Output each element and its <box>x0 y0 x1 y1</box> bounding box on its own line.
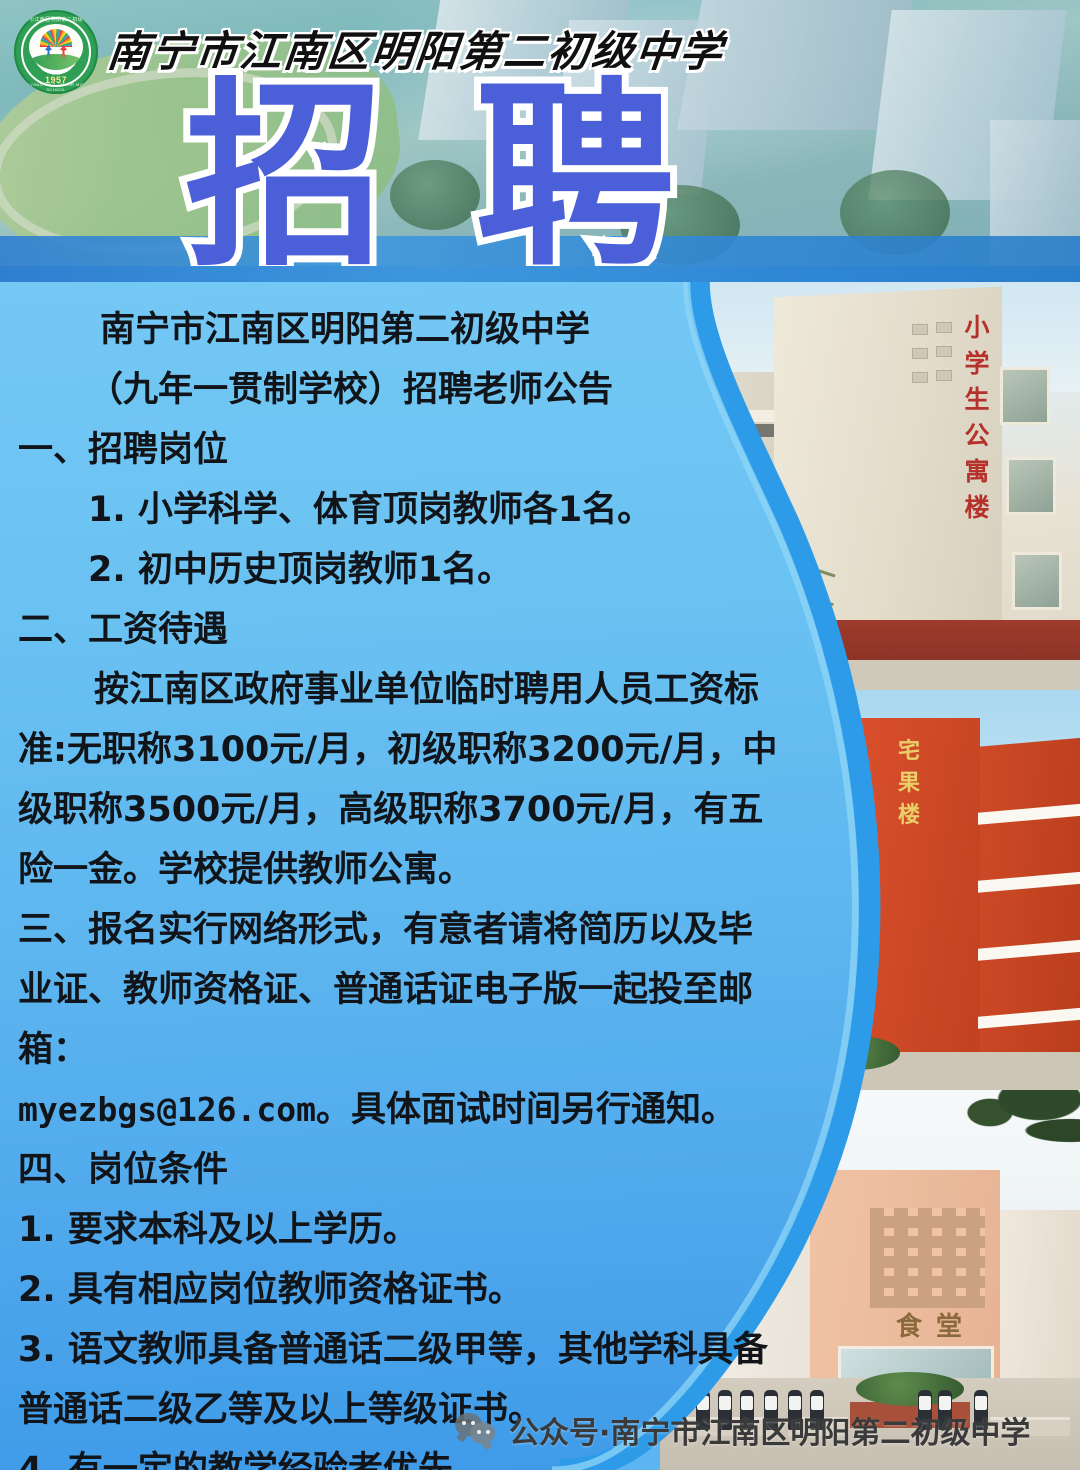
wall-vent <box>912 372 928 383</box>
tree-branch <box>806 565 835 577</box>
application-email-line: myezbgs@126.com。具体面试时间另行通知。 <box>0 1080 800 1140</box>
logo-arc-top-text: 南宁市江南区明阳第二初级中学 <box>14 16 98 23</box>
email-address[interactable]: myezbgs@126.com <box>18 1090 316 1129</box>
announcement-body: 南宁市江南区明阳第二初级中学 （九年一贯制学校）招聘老师公告 一、招聘岗位 1.… <box>0 300 800 1470</box>
section-heading-salary: 二、工资待遇 <box>0 600 800 660</box>
salary-body: 按江南区政府事业单位临时聘用人员工资标准:无职称3100元/月，初级职称3200… <box>0 660 778 900</box>
school-logo: 南宁市江南区明阳第二初级中学 1957 MINGYANG NO.2 JUNIOR… <box>14 10 98 94</box>
section-heading-requirements: 四、岗位条件 <box>0 1140 800 1200</box>
rainbow-sun-icon <box>40 29 72 47</box>
tree-branches <box>880 1090 1080 1180</box>
logo-inner-scene <box>29 24 83 70</box>
footer-wechat: 公众号·南宁市江南区明阳第二初级中学 <box>455 1408 1030 1452</box>
photo-caption-cafeteria: 食堂 <box>896 1314 976 1340</box>
section-heading-application: 三、报名实行网络形式，有意者请将简历以及毕业证、教师资格证、普通话证电子版一起投… <box>0 900 778 1080</box>
photo-caption-classroom: 宅果楼 <box>894 736 924 832</box>
position-item: 2. 初中历史顶岗教师1名。 <box>0 540 800 600</box>
header-campus-photo: 南宁市江南区明阳第二初级中学 1957 MINGYANG NO.2 JUNIOR… <box>0 0 1080 272</box>
wechat-dot <box>462 1421 466 1425</box>
announcement-title-line2: （九年一贯制学校）招聘老师公告 <box>0 360 800 420</box>
window <box>1006 457 1056 515</box>
cafeteria-right-wing <box>996 1210 1080 1382</box>
footer-account-name: 公众号·南宁市江南区明阳第二初级中学 <box>509 1408 1030 1452</box>
wall-vent <box>936 346 952 357</box>
wechat-bubble-small <box>470 1422 495 1444</box>
requirement-item: 1. 要求本科及以上学历。 <box>0 1200 800 1260</box>
building-right-facade <box>978 737 1080 1083</box>
wall-vent <box>936 322 952 333</box>
announcement-title-line1: 南宁市江南区明阳第二初级中学 <box>0 300 800 360</box>
window <box>1000 367 1050 425</box>
hill-shape <box>29 54 83 70</box>
photo-caption-dormitory: 小学生公寓楼 <box>960 310 994 526</box>
page-title: 招聘 <box>185 78 765 272</box>
logo-arc-bottom-text: MINGYANG NO.2 JUNIOR MIDDLE SCHOOL <box>14 82 98 92</box>
requirement-item: 2. 具有相应岗位教师资格证书。 <box>0 1260 800 1320</box>
top-accent-band <box>0 266 1080 282</box>
window <box>1012 552 1062 610</box>
wechat-dot <box>471 1421 475 1425</box>
wall-vent <box>912 348 928 359</box>
wall-vent <box>936 370 952 381</box>
position-item: 1. 小学科学、体育顶岗教师各1名。 <box>0 480 800 540</box>
wechat-dot <box>477 1430 481 1434</box>
wechat-dot <box>486 1430 490 1434</box>
wall-vent <box>912 324 928 335</box>
recruitment-poster: 南宁市江南区明阳第二初级中学 1957 MINGYANG NO.2 JUNIOR… <box>0 0 1080 1470</box>
email-note: 。具体面试时间另行通知。 <box>316 1090 736 1130</box>
section-heading-positions: 一、招聘岗位 <box>0 420 800 480</box>
wechat-icon <box>455 1413 497 1447</box>
decorative-window-grid <box>870 1208 985 1308</box>
